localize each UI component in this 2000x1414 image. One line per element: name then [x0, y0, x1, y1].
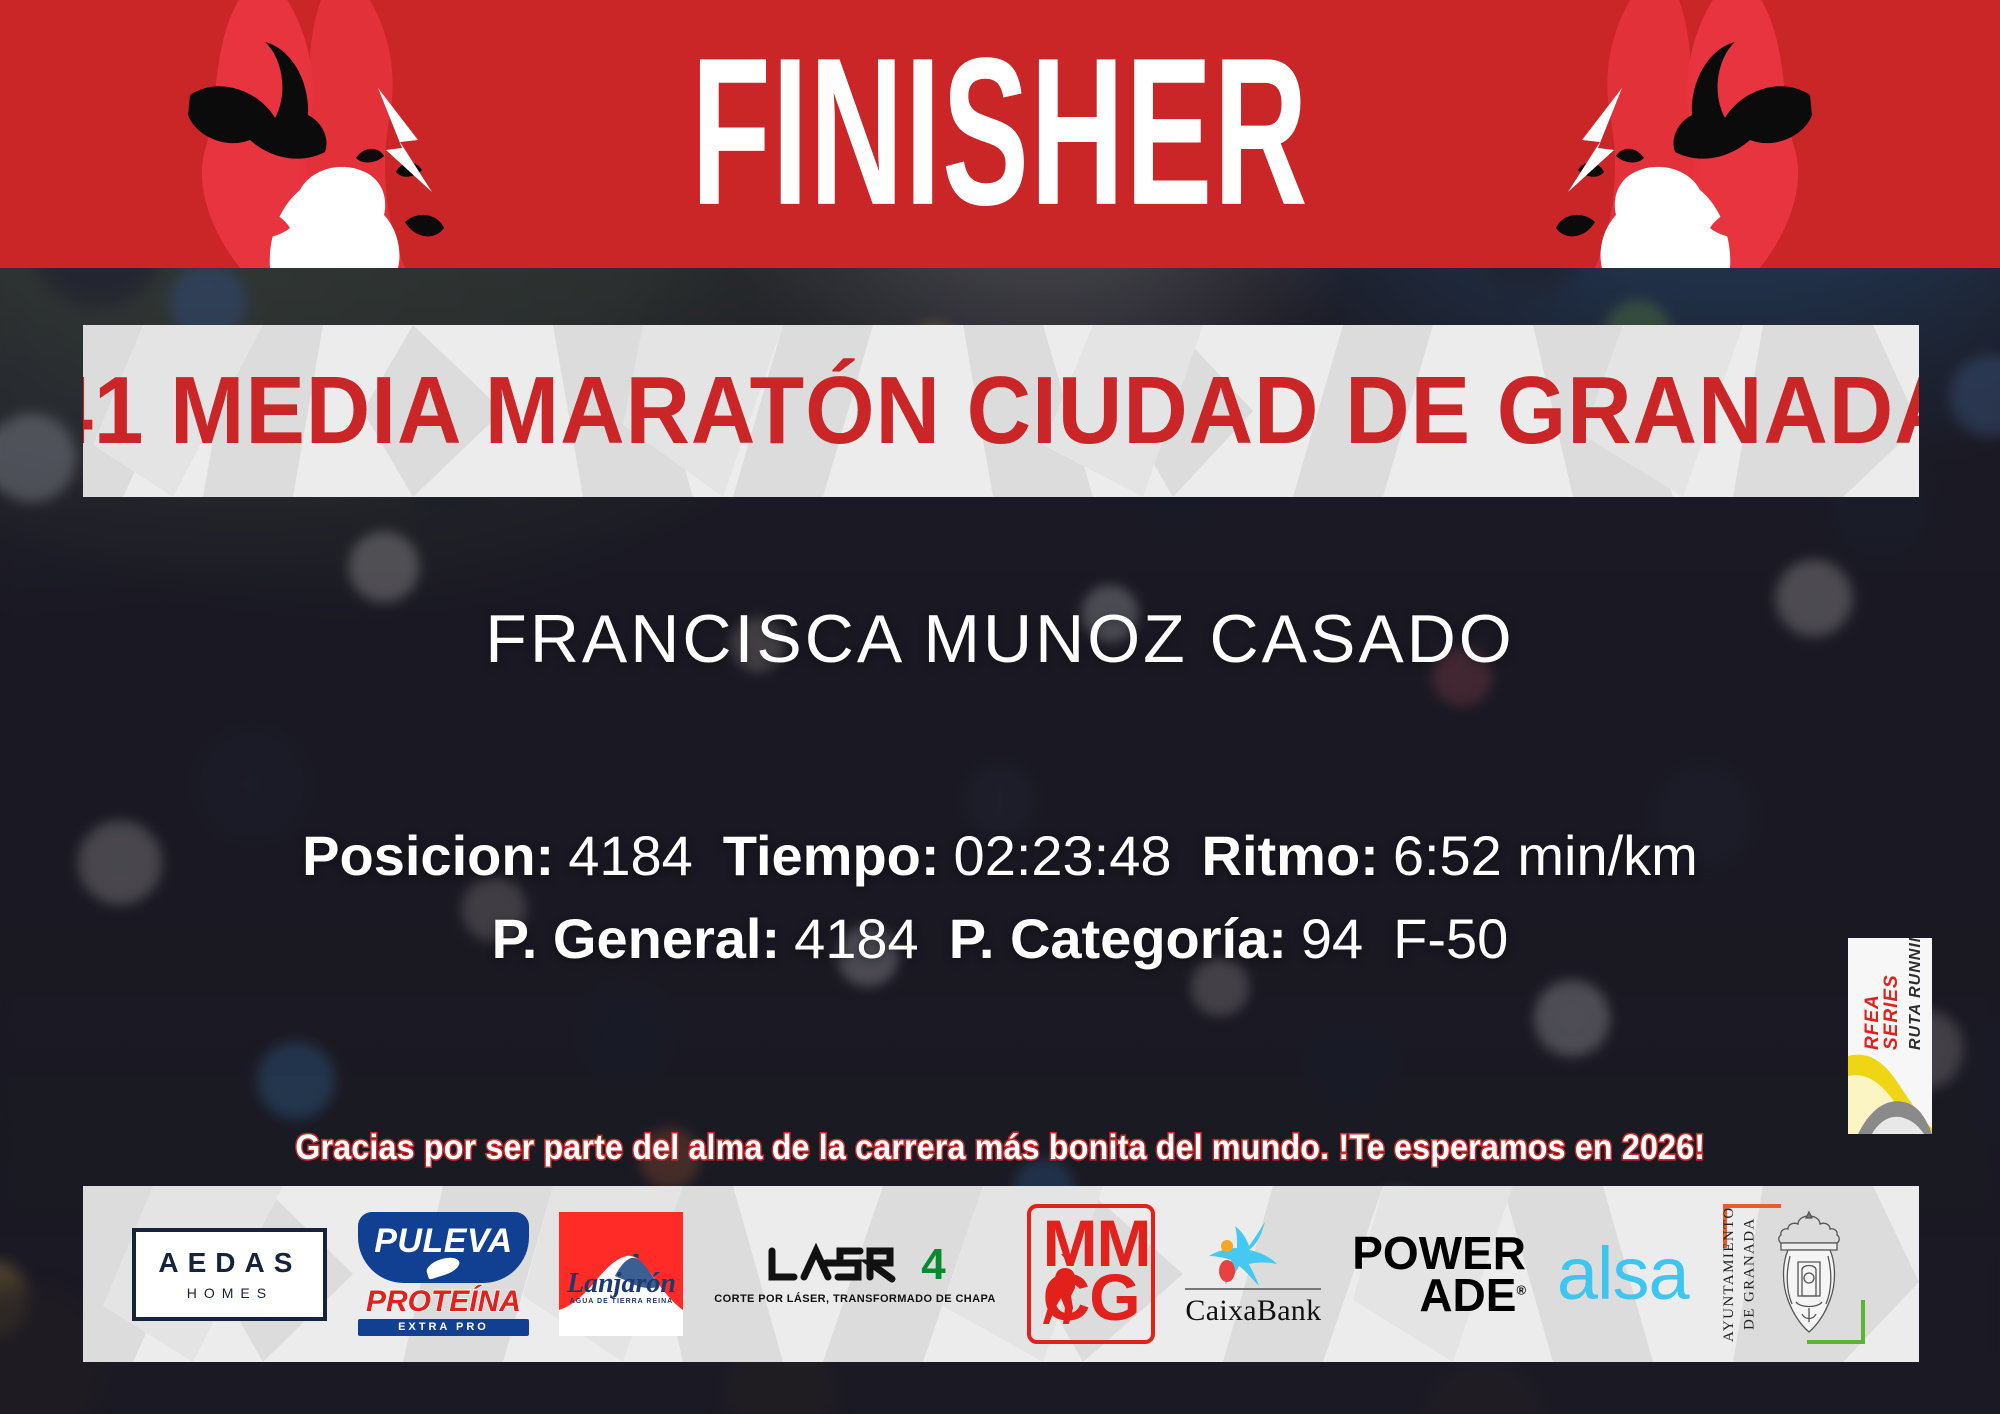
rfea-line1: RFEA — [1862, 994, 1883, 1050]
pace-label: Ritmo: — [1202, 824, 1379, 887]
runner-silhouette-icon — [1041, 1254, 1085, 1330]
results-row-2: P. General:4184P. Categoría:94F-50 — [0, 898, 2000, 981]
powerade-sub: ADE — [1419, 1269, 1516, 1321]
category-code: F-50 — [1393, 907, 1508, 970]
thank-you-text: Gracias por ser parte del alma de la car… — [295, 1128, 1705, 1168]
sponsor-logo-powerade: POWER ADE® — [1352, 1232, 1526, 1317]
category-position-value: 94 — [1301, 907, 1363, 970]
puleva-sub: PROTEÍNA — [358, 1287, 528, 1317]
puleva-name: PULEVA — [374, 1222, 512, 1261]
results-block: Posicion:4184Tiempo:02:23:48Ritmo:6:52 m… — [0, 815, 2000, 981]
powerade-name: POWER — [1352, 1232, 1526, 1274]
finisher-certificate: FINISHER — [0, 0, 2000, 1414]
general-position-value: 4184 — [794, 907, 919, 970]
sponsor-logo-ayuntamiento-granada: AYUNTAMIENTO DE GRANADA — [1719, 1202, 1869, 1346]
rfea-series-badge: RFEA SERIES RUTA RUNNING — [1848, 938, 1932, 1134]
finisher-title: FINISHER — [0, 48, 2000, 220]
finisher-header-banner: FINISHER — [0, 0, 2000, 268]
position-label: Posicion: — [302, 824, 554, 887]
time-label: Tiempo: — [723, 824, 940, 887]
rfea-line3: RUTA RUNNING — [1907, 938, 1924, 1050]
sponsor-logo-puleva: PULEVA PROTEÍNA EXTRA PRO — [358, 1212, 528, 1336]
alsa-name: alsa — [1557, 1237, 1689, 1311]
lanjaron-name: Lanjarón — [559, 1268, 683, 1300]
pace-value: 6:52 min/km — [1393, 824, 1698, 887]
race-title-text: 41 MEDIA MARATÓN CIUDAD DE GRANADA — [83, 356, 1919, 466]
race-title-band: 41 MEDIA MARATÓN CIUDAD DE GRANADA — [83, 325, 1919, 497]
aedas-sub: HOMES — [158, 1286, 301, 1300]
category-position-label: P. Categoría: — [949, 907, 1287, 970]
sponsor-logo-laser4: 4 CORTE POR LÁSER, TRANSFORMADO DE CHAPA — [714, 1243, 995, 1305]
sponsor-logo-lanjaron: Lanjarón AGUA DE TIERRA REINA — [559, 1212, 683, 1336]
rfea-badge-icon: RFEA SERIES RUTA RUNNING — [1848, 938, 1932, 1134]
finisher-title-text: FINISHER — [691, 46, 1309, 218]
sponsor-bar: AEDAS HOMES PULEVA PROTEÍNA EXTRA PRO — [83, 1186, 1919, 1362]
sponsor-logo-caixabank: CaixaBank — [1185, 1220, 1321, 1328]
ayuntamiento-name: AYUNTAMIENTO DE GRANADA — [1719, 1202, 1760, 1346]
laser4-tagline: CORTE POR LÁSER, TRANSFORMADO DE CHAPA — [714, 1293, 995, 1305]
sponsor-logo-mmcg: MM CG — [1027, 1204, 1155, 1344]
sponsor-logo-alsa: alsa — [1557, 1237, 1689, 1311]
race-title: 41 MEDIA MARATÓN CIUDAD DE GRANADA — [83, 325, 1919, 497]
caixabank-name: CaixaBank — [1185, 1288, 1321, 1328]
thank-you-message: Gracias por ser parte del alma de la car… — [0, 1128, 2000, 1168]
position-value: 4184 — [568, 824, 693, 887]
general-position-label: P. General: — [492, 907, 780, 970]
star-icon — [1203, 1220, 1303, 1286]
lanjaron-sub: AGUA DE TIERRA REINA — [559, 1298, 683, 1305]
results-row-1: Posicion:4184Tiempo:02:23:48Ritmo:6:52 m… — [0, 815, 2000, 898]
laser4-sub: 4 — [921, 1245, 945, 1285]
sponsor-logo-aedas: AEDAS HOMES — [132, 1228, 327, 1321]
aedas-name: AEDAS — [158, 1249, 301, 1277]
puleva-sub2: EXTRA PRO — [358, 1319, 528, 1336]
rfea-line2: SERIES — [1881, 974, 1902, 1050]
time-value: 02:23:48 — [954, 824, 1172, 887]
runner-name: FRANCISCA MUNOZ CASADO — [0, 600, 2000, 678]
laser-wordmark-icon — [764, 1243, 914, 1287]
